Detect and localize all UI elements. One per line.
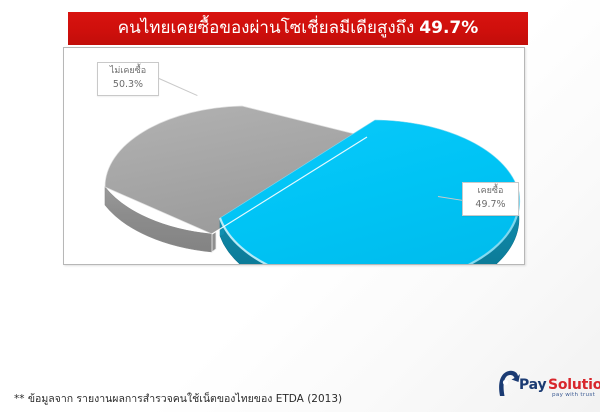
title-highlight-value: 49.7%: [419, 20, 478, 37]
logo-tagline: pay with trust: [552, 392, 595, 398]
callout-left-label: ไม่เคยซื้อ: [103, 66, 153, 77]
chart-frame: ไม่เคยซื้อ 50.3% เคยซื้อ 49.7%: [63, 47, 525, 265]
logo-arrow-icon: [497, 370, 521, 398]
slide-background: คนไทยเคยซื้อของผ่านโซเชี่ยลมีเดียสูงถึง4…: [0, 0, 600, 412]
callout-left-value: 50.3%: [103, 79, 153, 91]
title-banner: คนไทยเคยซื้อของผ่านโซเชี่ยลมีเดียสูงถึง4…: [68, 12, 528, 45]
logo-word-pay: Pay: [519, 377, 546, 393]
pie-chart[interactable]: ไม่เคยซื้อ 50.3% เคยซื้อ 49.7%: [64, 48, 524, 264]
pay-solutions-logo[interactable]: Pay Solutions pay with trust: [497, 369, 593, 405]
callout-right-label: เคยซื้อ: [468, 186, 513, 197]
footer-source-note: ** ข้อมูลจาก รายงานผลการสำรวจคนใช้เน็ตขอ…: [14, 390, 342, 407]
callout-bought[interactable]: เคยซื้อ 49.7%: [462, 182, 519, 216]
callout-never-bought[interactable]: ไม่เคยซื้อ 50.3%: [97, 62, 159, 96]
callout-right-value: 49.7%: [468, 199, 513, 211]
page-title: คนไทยเคยซื้อของผ่านโซเชี่ยลมีเดียสูงถึง: [118, 20, 415, 37]
logo-word-solutions: Solutions: [548, 377, 600, 393]
